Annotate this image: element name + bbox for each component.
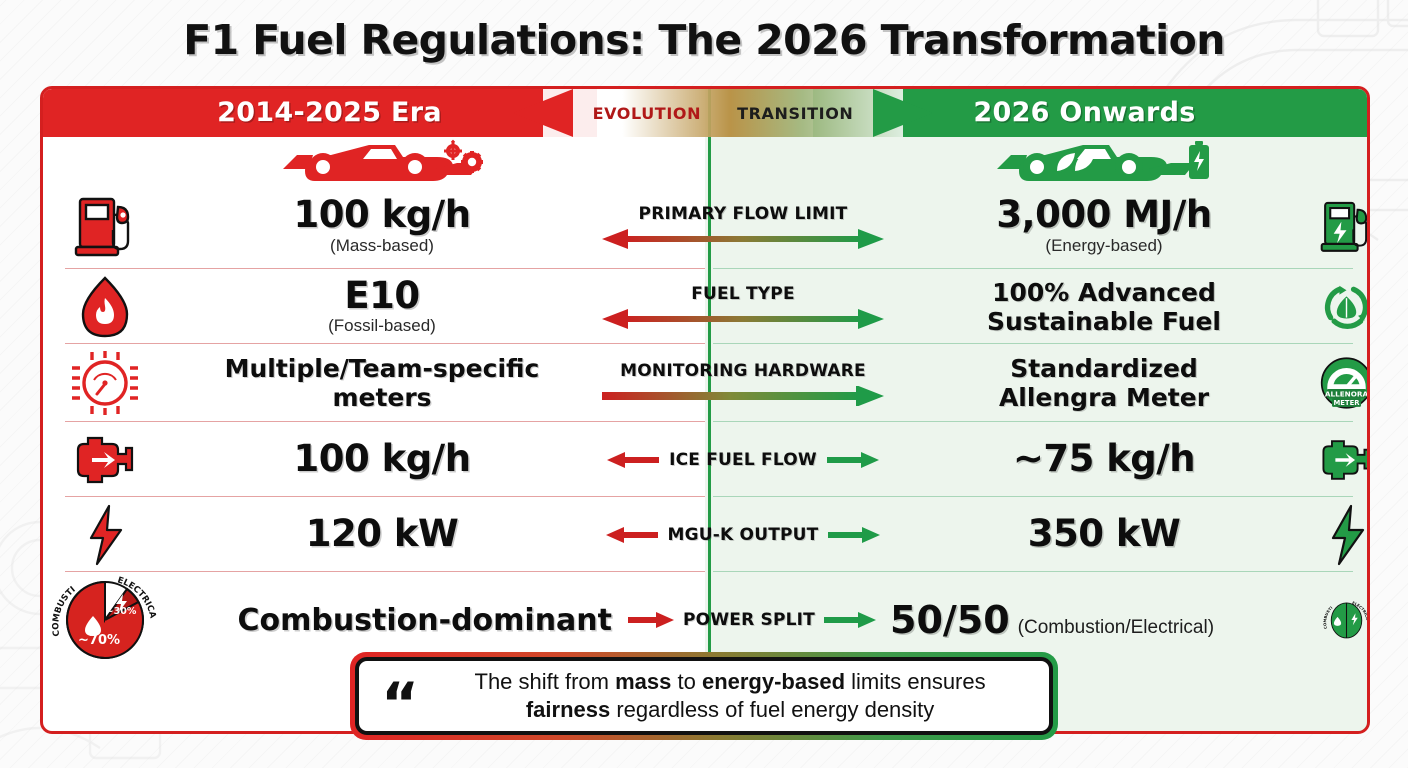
left-value-sub: (Fossil-based) <box>328 316 436 336</box>
quote-l1a: The shift from <box>475 669 616 694</box>
quote-box: “ The shift from mass to energy-based li… <box>355 657 1053 735</box>
row-label-fuel-type: FUEL TYPE <box>598 284 888 329</box>
right-value-fuel-type: 100% Advanced Sustainable Fuel <box>888 278 1320 336</box>
lightning-bolt-icon <box>43 504 166 566</box>
right-value-text: ~75 kg/h <box>1013 440 1195 478</box>
arrow-left-icon <box>607 452 659 468</box>
right-value-line2: Allengra Meter <box>999 383 1209 412</box>
top-icon-strip <box>43 137 1367 183</box>
power-split-left-text: Combustion-dominant <box>166 603 616 638</box>
row-label-text: MGU-K OUTPUT <box>668 525 819 545</box>
row-label-text: ICE FUEL FLOW <box>669 450 817 470</box>
circuit-gauge-icon <box>43 350 166 416</box>
row-label-text: MONITORING HARDWARE <box>620 361 866 381</box>
row-label-mguk: MGU-K OUTPUT <box>598 525 888 545</box>
arrow-right-green-icon <box>824 612 876 628</box>
left-value-text: 100 kg/h <box>293 196 470 234</box>
quote-l1e: limits ensures <box>845 669 986 694</box>
right-value-line1: 100% Advanced <box>992 278 1216 307</box>
quote-l1b: mass <box>615 669 671 694</box>
row-label-ice-flow: ICE FUEL FLOW <box>598 450 888 470</box>
left-value-fuel-type: E10 (Fossil-based) <box>166 277 598 336</box>
right-value-ice-flow: ~75 kg/h <box>888 440 1320 478</box>
header-word-transition: TRANSITION <box>737 104 853 123</box>
power-split-label-group: POWER SPLIT <box>616 610 888 630</box>
donut-left-combustion-value: ~70% <box>77 633 119 648</box>
power-split-donut-left: ~30% ~70% COMBUSTION ELECTRICAL <box>43 572 166 668</box>
row-label-text: PRIMARY FLOW LIMIT <box>639 204 848 224</box>
f1-car-leaf-battery-icon <box>888 137 1320 183</box>
quote-l2b: regardless of fuel energy density <box>610 697 934 722</box>
power-split-donut-right: COMBUSTION ELECTRICAL <box>1320 572 1370 668</box>
fuel-pump-icon <box>43 193 166 259</box>
comparison-rows: 100 kg/h (Mass-based) PRIMARY FLOW LIMIT… <box>43 137 1367 668</box>
single-right-arrow-icon <box>602 386 884 406</box>
engine-flow-icon <box>1320 432 1370 488</box>
recycle-leaf-icon <box>1320 277 1370 337</box>
arrow-right-icon <box>827 452 879 468</box>
row-monitoring-hardware: Multiple/Team-specific meters MONITORING… <box>43 344 1367 422</box>
right-value-line2: Sustainable Fuel <box>987 307 1221 336</box>
flame-drop-icon <box>43 276 166 338</box>
meter-icon-label-2: METER <box>1333 399 1360 407</box>
comparison-panel: 2014-2025 Era 2026 Onwards EVOLUTION TRA… <box>40 86 1370 734</box>
left-value-monitoring: Multiple/Team-specific meters <box>166 354 598 412</box>
row-primary-flow-limit: 100 kg/h (Mass-based) PRIMARY FLOW LIMIT… <box>43 183 1367 269</box>
double-arrow-icon <box>602 229 884 249</box>
right-value-primary-flow: 3,000 MJ/h (Energy-based) <box>888 196 1320 255</box>
right-value-monitoring: Standardized Allengra Meter <box>888 354 1320 412</box>
arrow-right-red-icon <box>628 612 674 628</box>
quote-l1d: energy-based <box>702 669 845 694</box>
arrow-left-icon <box>606 527 658 543</box>
left-value-sub: (Mass-based) <box>330 236 434 256</box>
power-split-right-group: 50/50 (Combustion/Electrical) <box>888 598 1320 642</box>
right-value-sub: (Energy-based) <box>1045 236 1162 256</box>
left-value-mguk: 120 kW <box>166 515 598 553</box>
quote-l1c: to <box>671 669 702 694</box>
engine-flow-icon <box>43 432 166 488</box>
quote-l2a: fairness <box>526 697 610 722</box>
row-label-primary-flow: PRIMARY FLOW LIMIT <box>598 204 888 249</box>
row-mguk-output: 120 kW MGU-K OUTPUT 350 kW <box>43 497 1367 572</box>
row-label-monitoring: MONITORING HARDWARE <box>598 361 888 406</box>
quote-text: The shift from mass to energy-based limi… <box>433 668 1027 723</box>
f1-car-gears-icon <box>166 137 598 183</box>
row-ice-fuel-flow: 100 kg/h ICE FUEL FLOW ~75 kg/h <box>43 422 1367 497</box>
meter-icon-label-1: ALLENORA <box>1325 389 1369 398</box>
lightning-bolt-icon <box>1320 504 1370 566</box>
left-value-primary-flow: 100 kg/h (Mass-based) <box>166 196 598 255</box>
power-split-right-sub: (Combustion/Electrical) <box>1018 617 1214 639</box>
row-label-text: FUEL TYPE <box>691 284 795 304</box>
double-arrow-icon <box>602 309 884 329</box>
header-transition-band: EVOLUTION TRANSITION <box>543 89 903 137</box>
allenora-meter-icon: ALLENORA METER <box>1320 352 1370 414</box>
left-value-line1: Multiple/Team-specific <box>225 354 540 383</box>
left-value-line2: meters <box>332 383 431 412</box>
left-value-text: 120 kW <box>306 515 459 553</box>
power-split-right-value: 50/50 <box>890 598 1010 642</box>
right-value-mguk: 350 kW <box>888 515 1320 553</box>
ev-charge-pump-icon <box>1320 193 1370 259</box>
page-title: F1 Fuel Regulations: The 2026 Transforma… <box>0 16 1408 64</box>
donut-left-electrical-value: ~30% <box>105 606 136 617</box>
right-value-text: 350 kW <box>1028 515 1181 553</box>
left-value-ice-flow: 100 kg/h <box>166 440 598 478</box>
left-value-text: 100 kg/h <box>293 440 470 478</box>
arrow-right-icon <box>828 527 880 543</box>
power-split-label: POWER SPLIT <box>683 610 815 630</box>
header-word-evolution: EVOLUTION <box>593 104 702 123</box>
right-value-text: 3,000 MJ/h <box>996 196 1211 234</box>
left-value-text: E10 <box>344 277 419 315</box>
right-value-line1: Standardized <box>1010 354 1198 383</box>
row-fuel-type: E10 (Fossil-based) FUEL TYPE 100% Advanc… <box>43 269 1367 344</box>
quote-callout: “ The shift from mass to energy-based li… <box>350 652 1058 740</box>
